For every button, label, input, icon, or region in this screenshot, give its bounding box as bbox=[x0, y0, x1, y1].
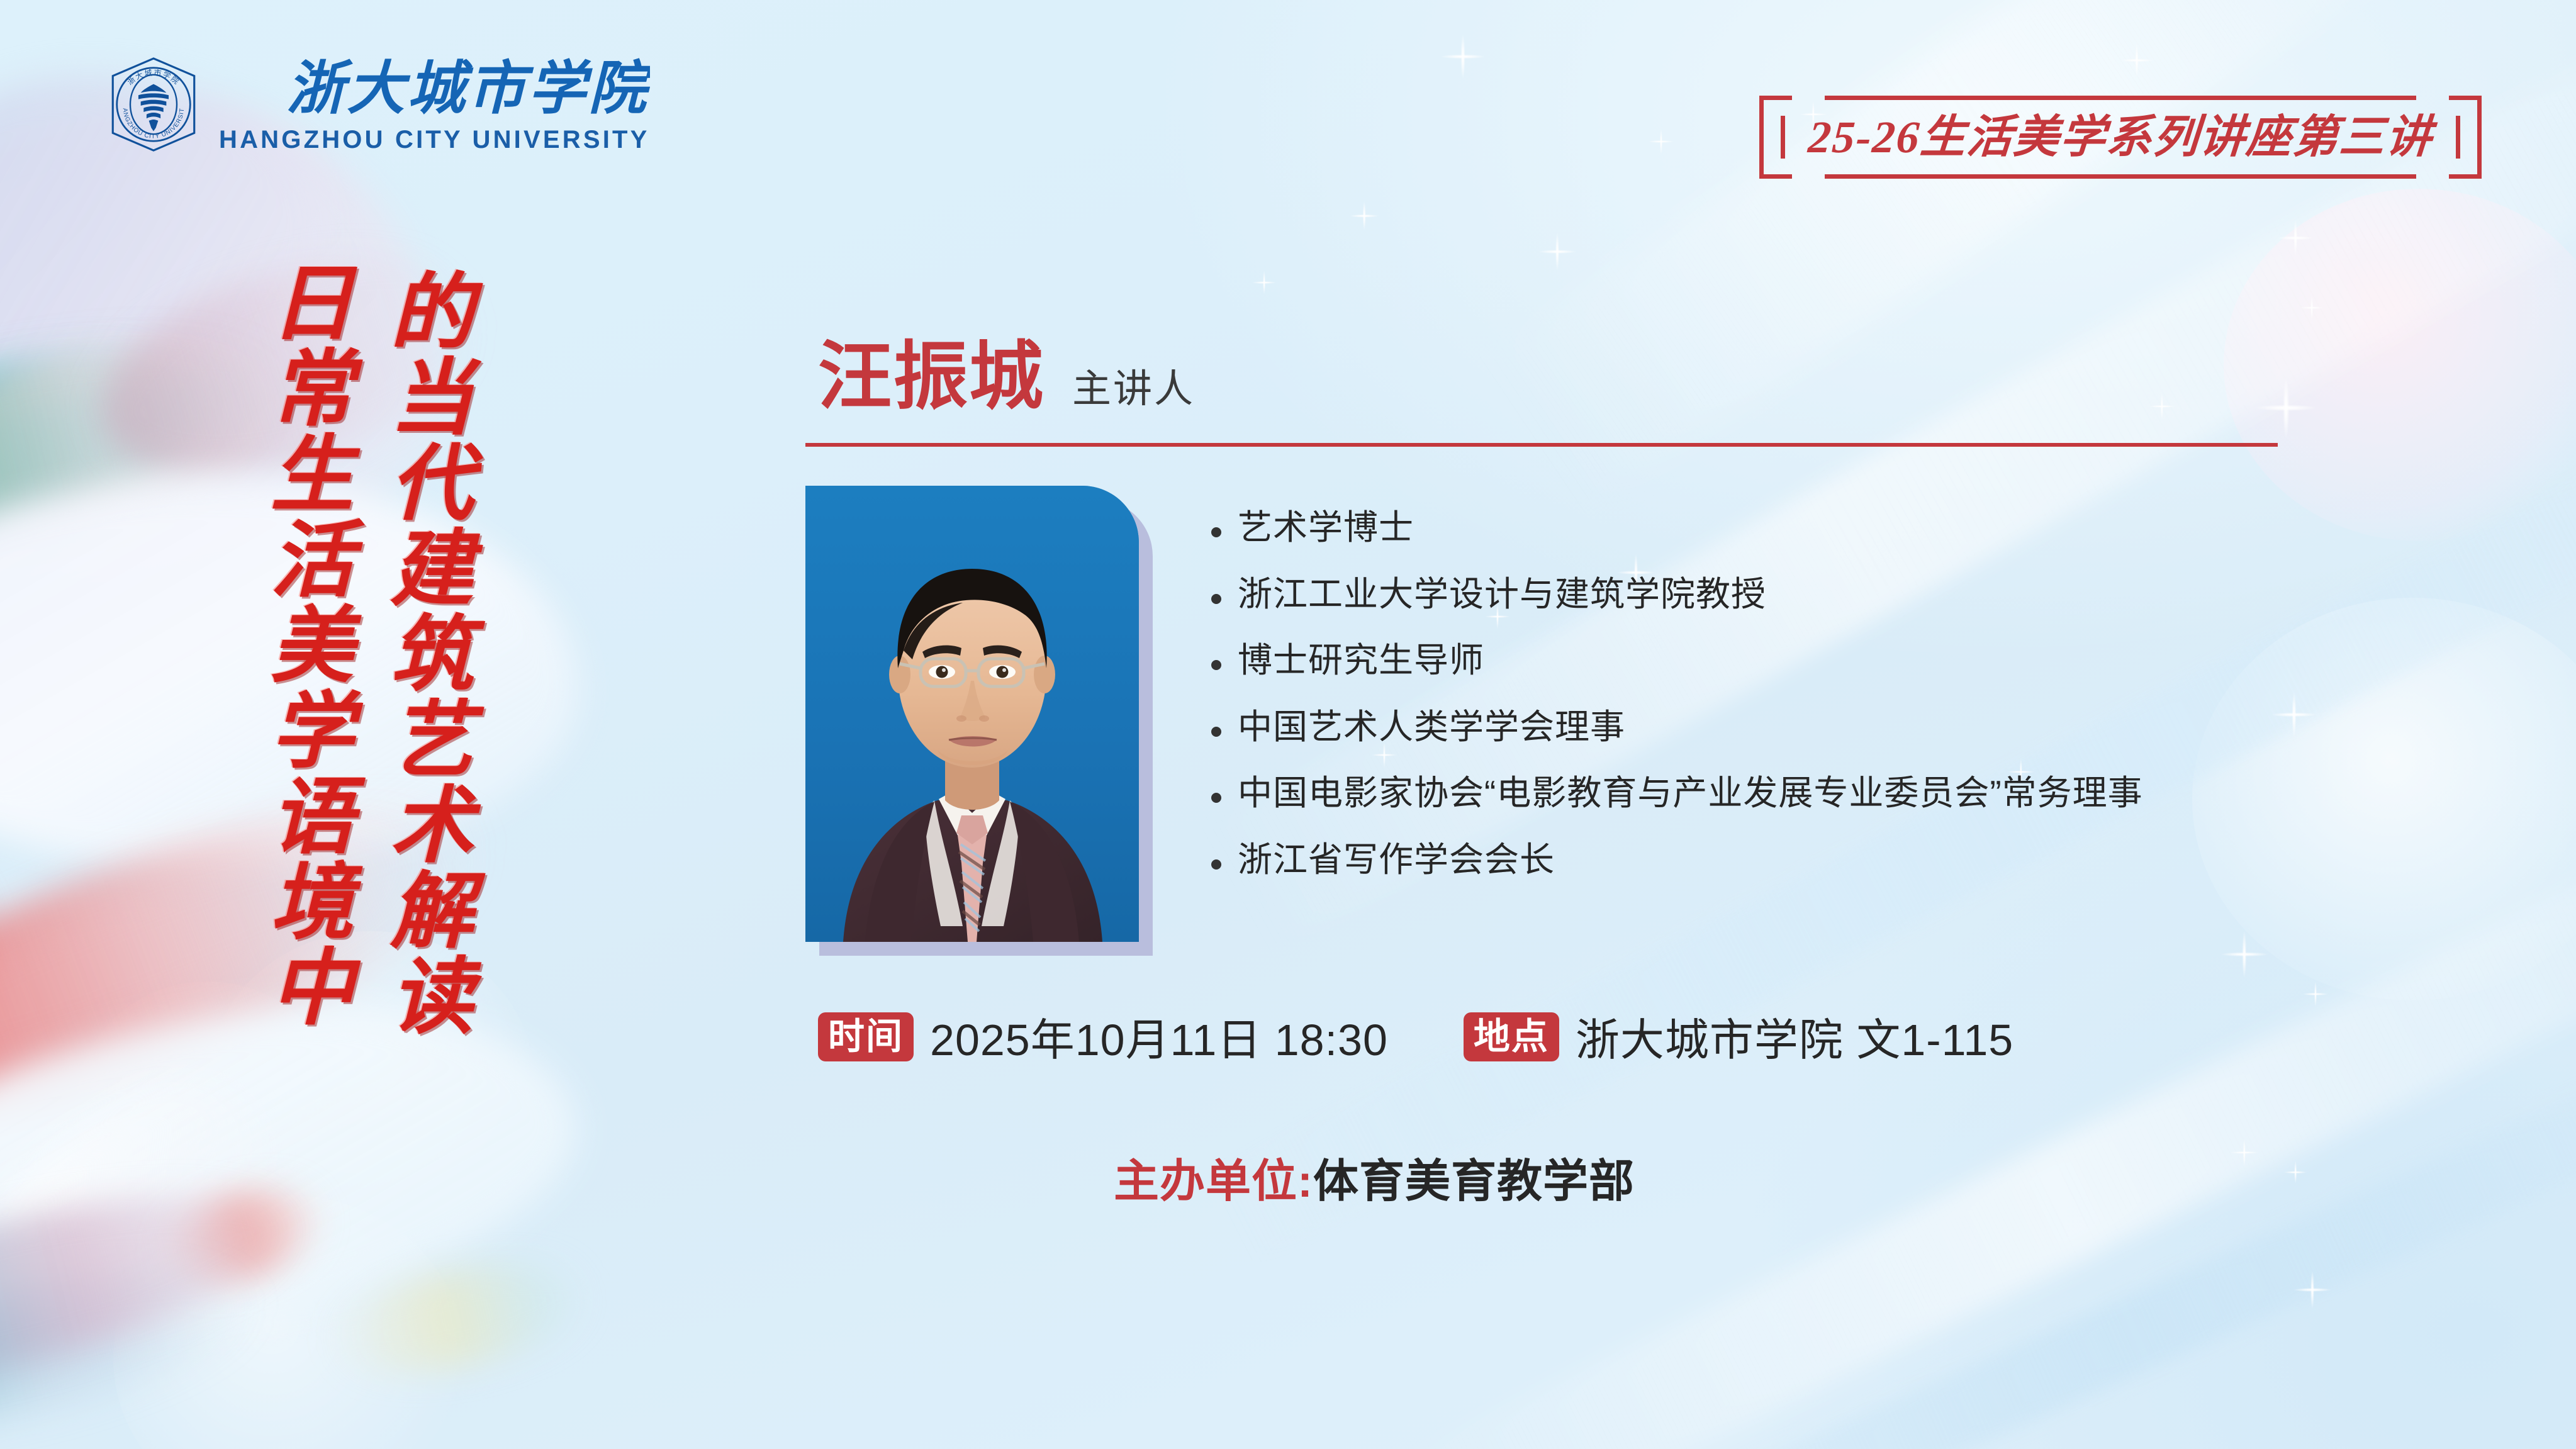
credential-text: 艺术学博士 bbox=[1238, 508, 1414, 547]
silk-teal-glow bbox=[0, 1239, 271, 1449]
lecture-title-vertical: 的 当 代 建 筑 艺 术 解 读 日 常 生 活 美 学 语 境 中 bbox=[271, 271, 473, 1041]
bokeh-circle bbox=[113, 1195, 466, 1449]
speaker-avatar bbox=[805, 486, 1139, 942]
speaker-heading: 汪振城 主讲人 bbox=[799, 340, 2498, 414]
silk-teal-band bbox=[0, 1155, 305, 1432]
banner-rule-bottom bbox=[1825, 174, 2416, 179]
silk-coral-accent bbox=[148, 1172, 329, 1301]
bullet-dot-icon bbox=[1211, 793, 1221, 803]
list-item: 浙江工业大学设计与建筑学院教授 bbox=[1211, 575, 2498, 614]
university-name-cn-text: 浙大城市学院 bbox=[286, 57, 649, 121]
bullet-dot-icon bbox=[1211, 859, 1221, 870]
bullet-dot-icon bbox=[1211, 727, 1221, 737]
credential-text: 浙江工业大学设计与建筑学院教授 bbox=[1238, 575, 1766, 614]
time-value: 2025年10月11日 18:30 bbox=[930, 1005, 1388, 1068]
title-char: 学 bbox=[271, 690, 354, 775]
title-char: 术 bbox=[390, 784, 473, 870]
title-char: 解 bbox=[390, 870, 473, 955]
sparkle-icon bbox=[2278, 220, 2313, 255]
list-item: 艺术学博士 bbox=[1211, 508, 2498, 547]
sparkle-icon bbox=[2300, 296, 2324, 320]
university-name-en: HANGZHOU CITY UNIVERSITY bbox=[219, 127, 650, 152]
title-char: 的 bbox=[390, 271, 473, 356]
place-badge: 地点 bbox=[1464, 1012, 1559, 1061]
title-char: 当 bbox=[390, 356, 473, 442]
poster-main-content: 汪振城 主讲人 bbox=[799, 340, 2498, 1210]
bullet-dot-icon bbox=[1211, 527, 1221, 537]
time-badge: 时间 bbox=[818, 1012, 914, 1061]
silk-teal-band bbox=[0, 308, 234, 603]
credential-text: 博士研究生导师 bbox=[1238, 641, 1484, 680]
list-item: 中国艺术人类学学会理事 bbox=[1211, 708, 2498, 747]
place-value: 浙大城市学院 文1-115 bbox=[1576, 1005, 2013, 1068]
logo-text-block: 浙大城市学院 HANGZHOU CITY UNIVERSITY bbox=[219, 57, 650, 152]
series-banner: 25-26生活美学系列讲座第三讲 bbox=[1759, 96, 2482, 179]
lecture-title-column-left: 日 常 生 活 美 学 语 境 中 bbox=[271, 262, 354, 1041]
avatar-illustration bbox=[805, 486, 1139, 942]
list-item: 浙江省写作学会会长 bbox=[1211, 841, 2498, 880]
organizer-row: 主办单位: 体育美育教学部 bbox=[799, 1144, 2498, 1210]
credential-text: 浙江省写作学会会长 bbox=[1238, 841, 1555, 880]
list-item: 中国电影家协会“电影教育与产业发展专业委员会”常务理事 bbox=[1211, 774, 2498, 813]
divider-rule bbox=[805, 443, 2278, 447]
poster-header: HANGZHOU CITY UNIVERSITY 浙大城市学院 浙大城市学院 H… bbox=[0, 0, 2576, 208]
title-char: 活 bbox=[271, 518, 354, 604]
lecture-title-column-right: 的 当 代 建 筑 艺 术 解 读 bbox=[390, 271, 473, 1041]
series-banner-text: 25-26生活美学系列讲座第三讲 bbox=[1789, 96, 2451, 179]
credential-text: 中国艺术人类学学会理事 bbox=[1238, 708, 1625, 747]
title-char: 筑 bbox=[390, 613, 473, 698]
title-char: 语 bbox=[271, 775, 354, 861]
organizer-value: 体育美育教学部 bbox=[1313, 1144, 1635, 1210]
title-char: 艺 bbox=[390, 698, 473, 784]
title-char: 日 bbox=[271, 262, 354, 347]
title-char: 代 bbox=[390, 442, 473, 527]
sparkle-icon bbox=[2293, 1271, 2331, 1309]
list-item: 博士研究生导师 bbox=[1211, 641, 2498, 680]
title-char: 美 bbox=[271, 604, 354, 690]
event-info-row: 时间 2025年10月11日 18:30 地点 浙大城市学院 文1-115 bbox=[799, 1005, 2498, 1068]
university-seal-icon: HANGZHOU CITY UNIVERSITY 浙大城市学院 bbox=[107, 57, 200, 152]
bullet-dot-icon bbox=[1211, 660, 1221, 670]
silk-petal-form bbox=[0, 1059, 291, 1319]
lecture-poster: HANGZHOU CITY UNIVERSITY 浙大城市学院 浙大城市学院 H… bbox=[0, 0, 2576, 1449]
speaker-photo-frame bbox=[805, 486, 1139, 942]
title-char: 境 bbox=[271, 861, 354, 946]
university-logo: HANGZHOU CITY UNIVERSITY 浙大城市学院 浙大城市学院 H… bbox=[107, 57, 650, 152]
speaker-profile: 艺术学博士 浙江工业大学设计与建筑学院教授 博士研究生导师 中国艺术人类学学会理… bbox=[799, 486, 2498, 942]
credential-text: 中国电影家协会“电影教育与产业发展专业委员会”常务理事 bbox=[1238, 774, 2143, 813]
title-char: 中 bbox=[271, 946, 354, 1032]
title-char: 读 bbox=[390, 955, 473, 1041]
banner-bracket-left bbox=[1759, 96, 1792, 179]
banner-bracket-right bbox=[2449, 96, 2482, 179]
credentials-list: 艺术学博士 浙江工业大学设计与建筑学院教授 博士研究生导师 中国艺术人类学学会理… bbox=[1211, 486, 2498, 942]
title-char: 生 bbox=[271, 433, 354, 518]
university-name-cn: 浙大城市学院 bbox=[219, 57, 650, 122]
sparkle-icon bbox=[1538, 233, 1576, 271]
silk-yellow-accent bbox=[320, 1245, 598, 1392]
title-char: 建 bbox=[390, 527, 473, 613]
organizer-label: 主办单位: bbox=[1114, 1144, 1313, 1210]
bullet-dot-icon bbox=[1211, 594, 1221, 604]
speaker-role-label: 主讲人 bbox=[1072, 370, 1195, 414]
speaker-name: 汪振城 bbox=[818, 340, 1044, 414]
svg-text:浙大城市学院: 浙大城市学院 bbox=[126, 67, 182, 86]
title-char: 常 bbox=[271, 347, 354, 433]
sparkle-icon bbox=[1252, 271, 1276, 294]
